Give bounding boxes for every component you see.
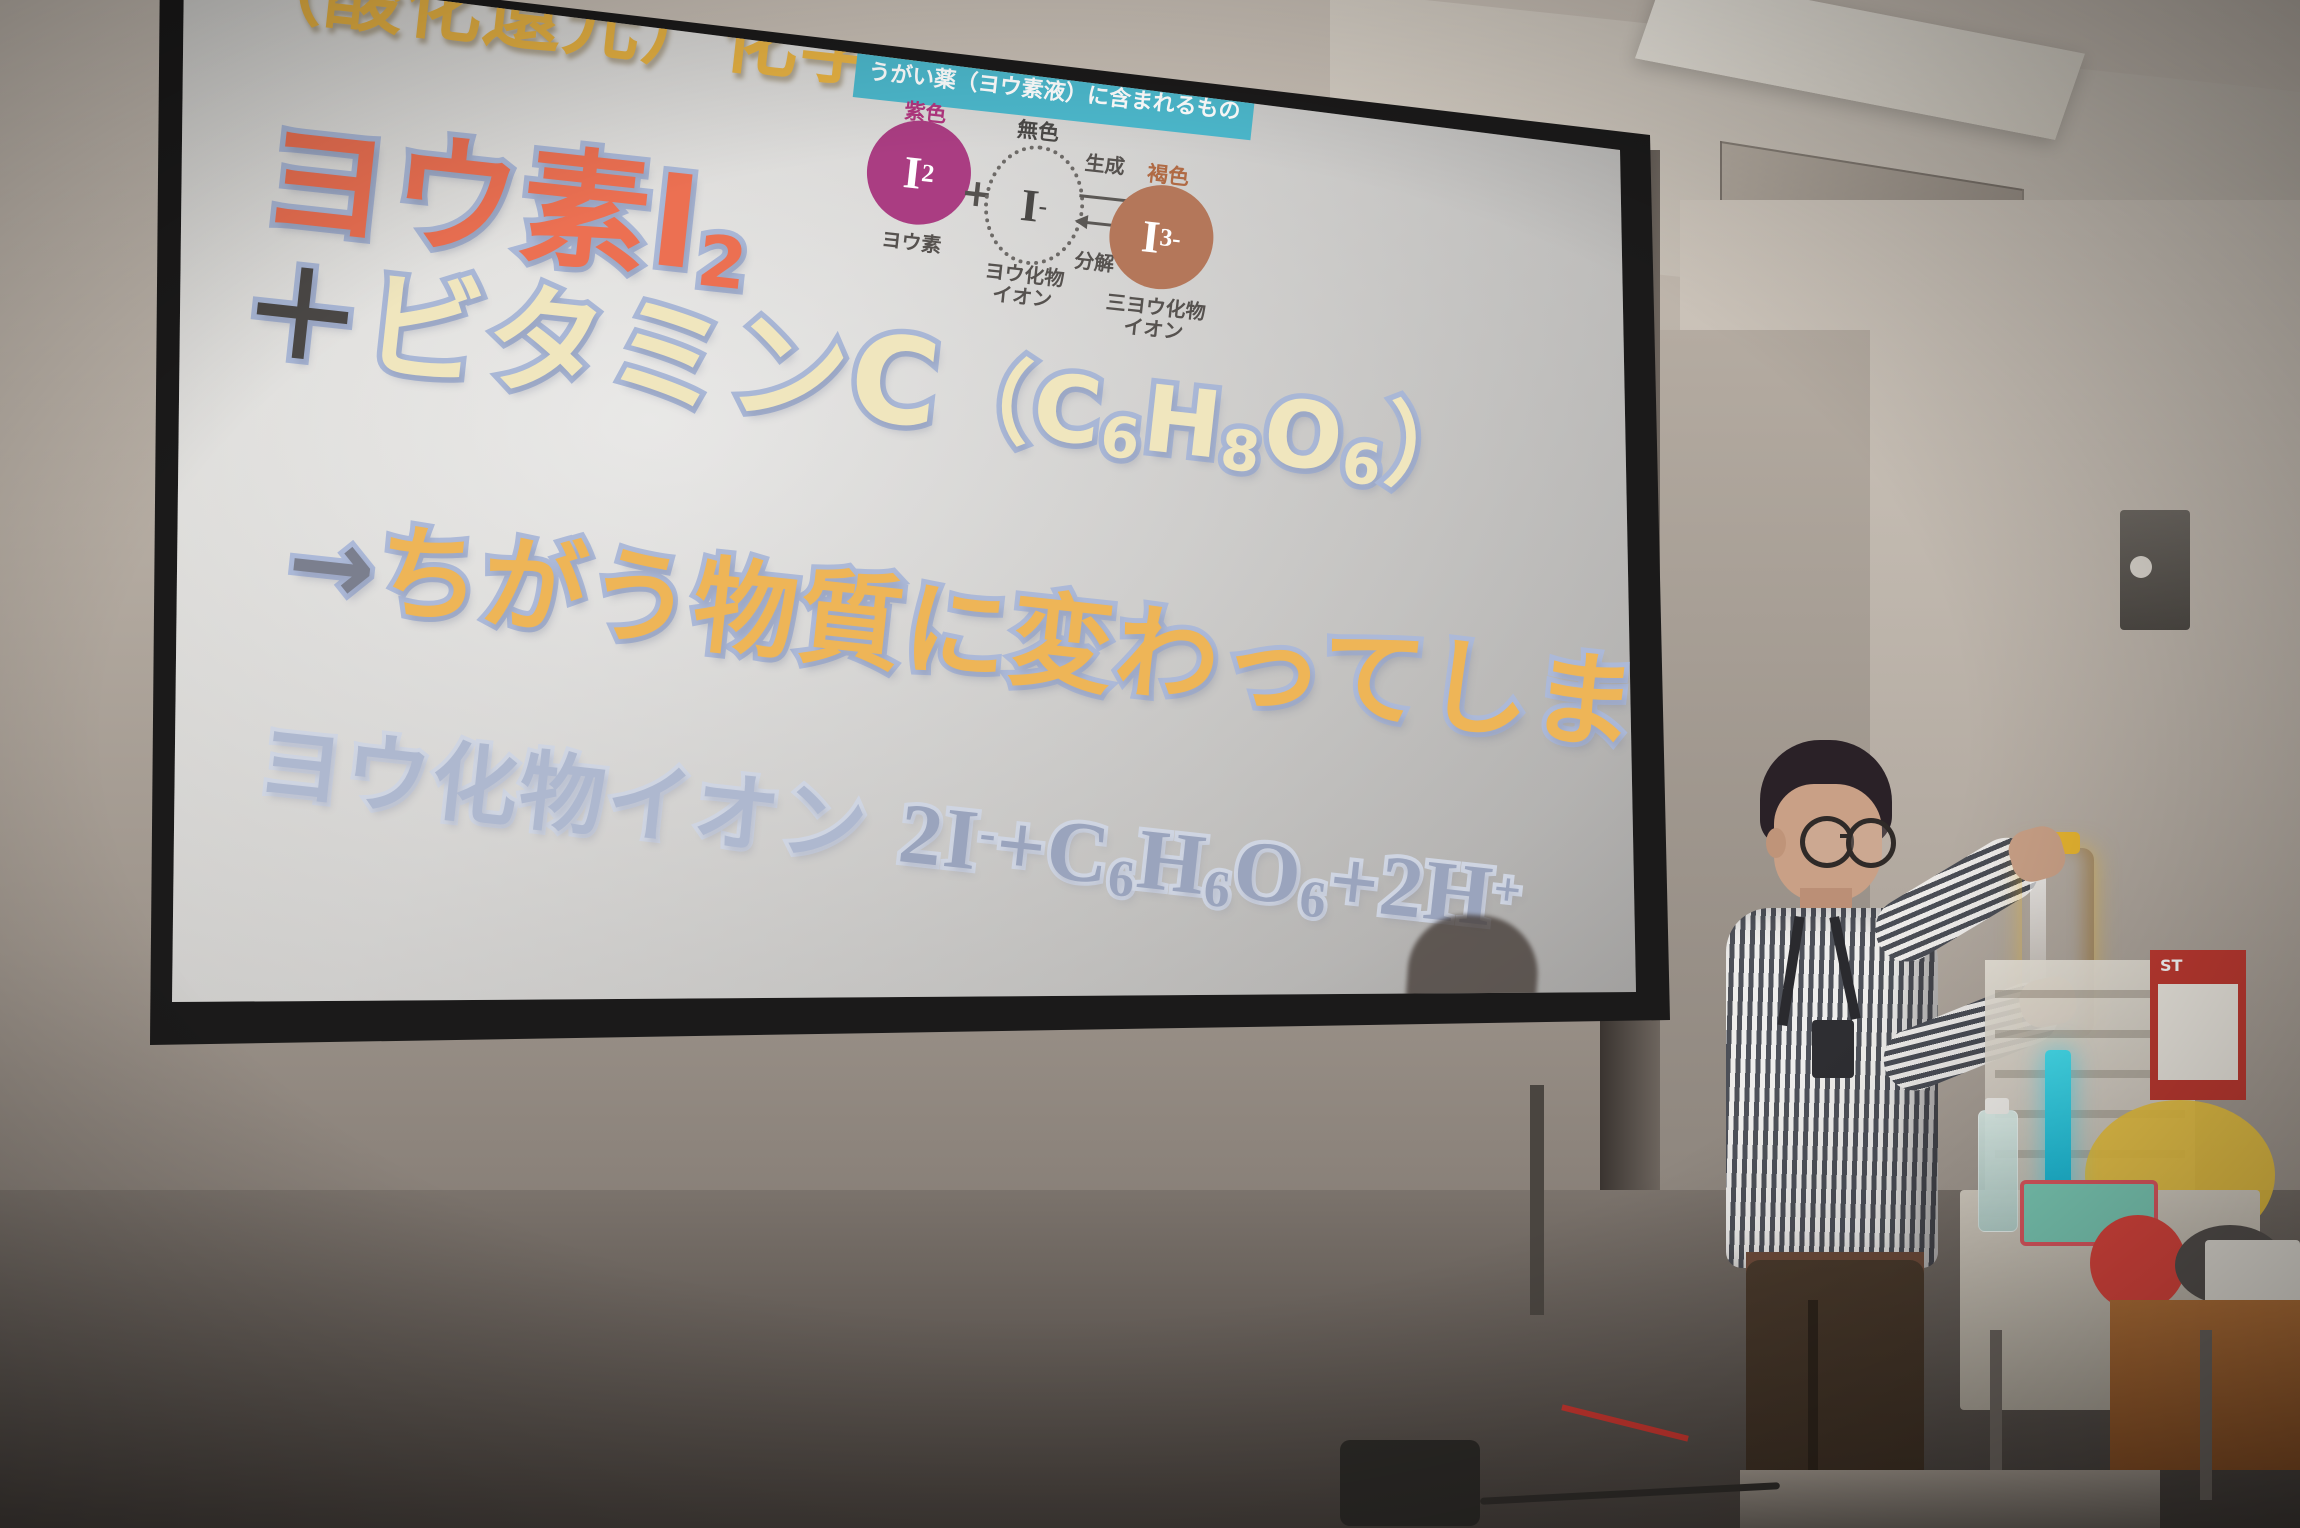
right-arrow-icon: → <box>282 500 384 631</box>
arrow-label-backward: 分解 <box>1073 244 1116 277</box>
glasses-right-lens-icon <box>1846 818 1896 868</box>
i3-charge: - <box>1171 224 1183 254</box>
inset-name-iodine: ヨウ素 <box>855 226 969 259</box>
iodide-ion-circle: I- <box>978 140 1090 270</box>
eq-h: H <box>1133 810 1212 913</box>
cart-leg <box>2200 1330 2212 1500</box>
speaker-dot-icon <box>2130 556 2152 578</box>
water-bottle-cap <box>1985 1098 2009 1114</box>
red-safety-poster: ST <box>2150 950 2246 1100</box>
formula-c-sub: 6 <box>1097 404 1145 473</box>
formula-o-sub: 6 <box>1339 431 1387 500</box>
floor-equipment <box>1340 1440 1480 1526</box>
plus-sign: ＋ <box>235 242 372 393</box>
formula-h-sub: 8 <box>1217 417 1265 486</box>
formula-close: ） <box>1380 391 1485 508</box>
glasses-bridge-icon <box>1840 834 1850 838</box>
eq-h-charge: + <box>1491 862 1526 918</box>
i2-subscript: 2 <box>920 158 936 188</box>
red-poster-image <box>2158 984 2238 1080</box>
screenshot-root: （酸化還元）化学反応 ヨウ素I2 ＋ビタミンC（C6H8O6） →ちがう物質に変… <box>0 0 2300 1528</box>
presenter-ear <box>1766 828 1786 858</box>
eq-plus-c: +C <box>992 795 1116 903</box>
eq-coefficient: 2I <box>895 784 985 888</box>
red-poster-label: ST <box>2160 956 2182 975</box>
screen-support-pole <box>1530 1085 1544 1315</box>
eq-o: O <box>1229 821 1308 924</box>
front-table <box>1740 1470 2160 1528</box>
slide-surface: （酸化還元）化学反応 ヨウ素I2 ＋ビタミンC（C6H8O6） →ちがう物質に変… <box>150 0 1710 1110</box>
water-bottle <box>1978 1110 2018 1232</box>
lanyard-badge <box>1812 1020 1854 1078</box>
formula-o: O <box>1259 378 1351 493</box>
iodide-charge: - <box>1037 191 1049 221</box>
slide-content: （酸化還元）化学反応 ヨウ素I2 ＋ビタミンC（C6H8O6） →ちがう物質に変… <box>150 0 1710 1110</box>
red-balloon <box>2090 1215 2186 1311</box>
iodide-ion-label: ヨウ化物イオン <box>252 713 873 879</box>
projection-screen: （酸化還元）化学反応 ヨウ素I2 ＋ビタミンC（C6H8O6） →ちがう物質に変… <box>150 0 1710 1110</box>
